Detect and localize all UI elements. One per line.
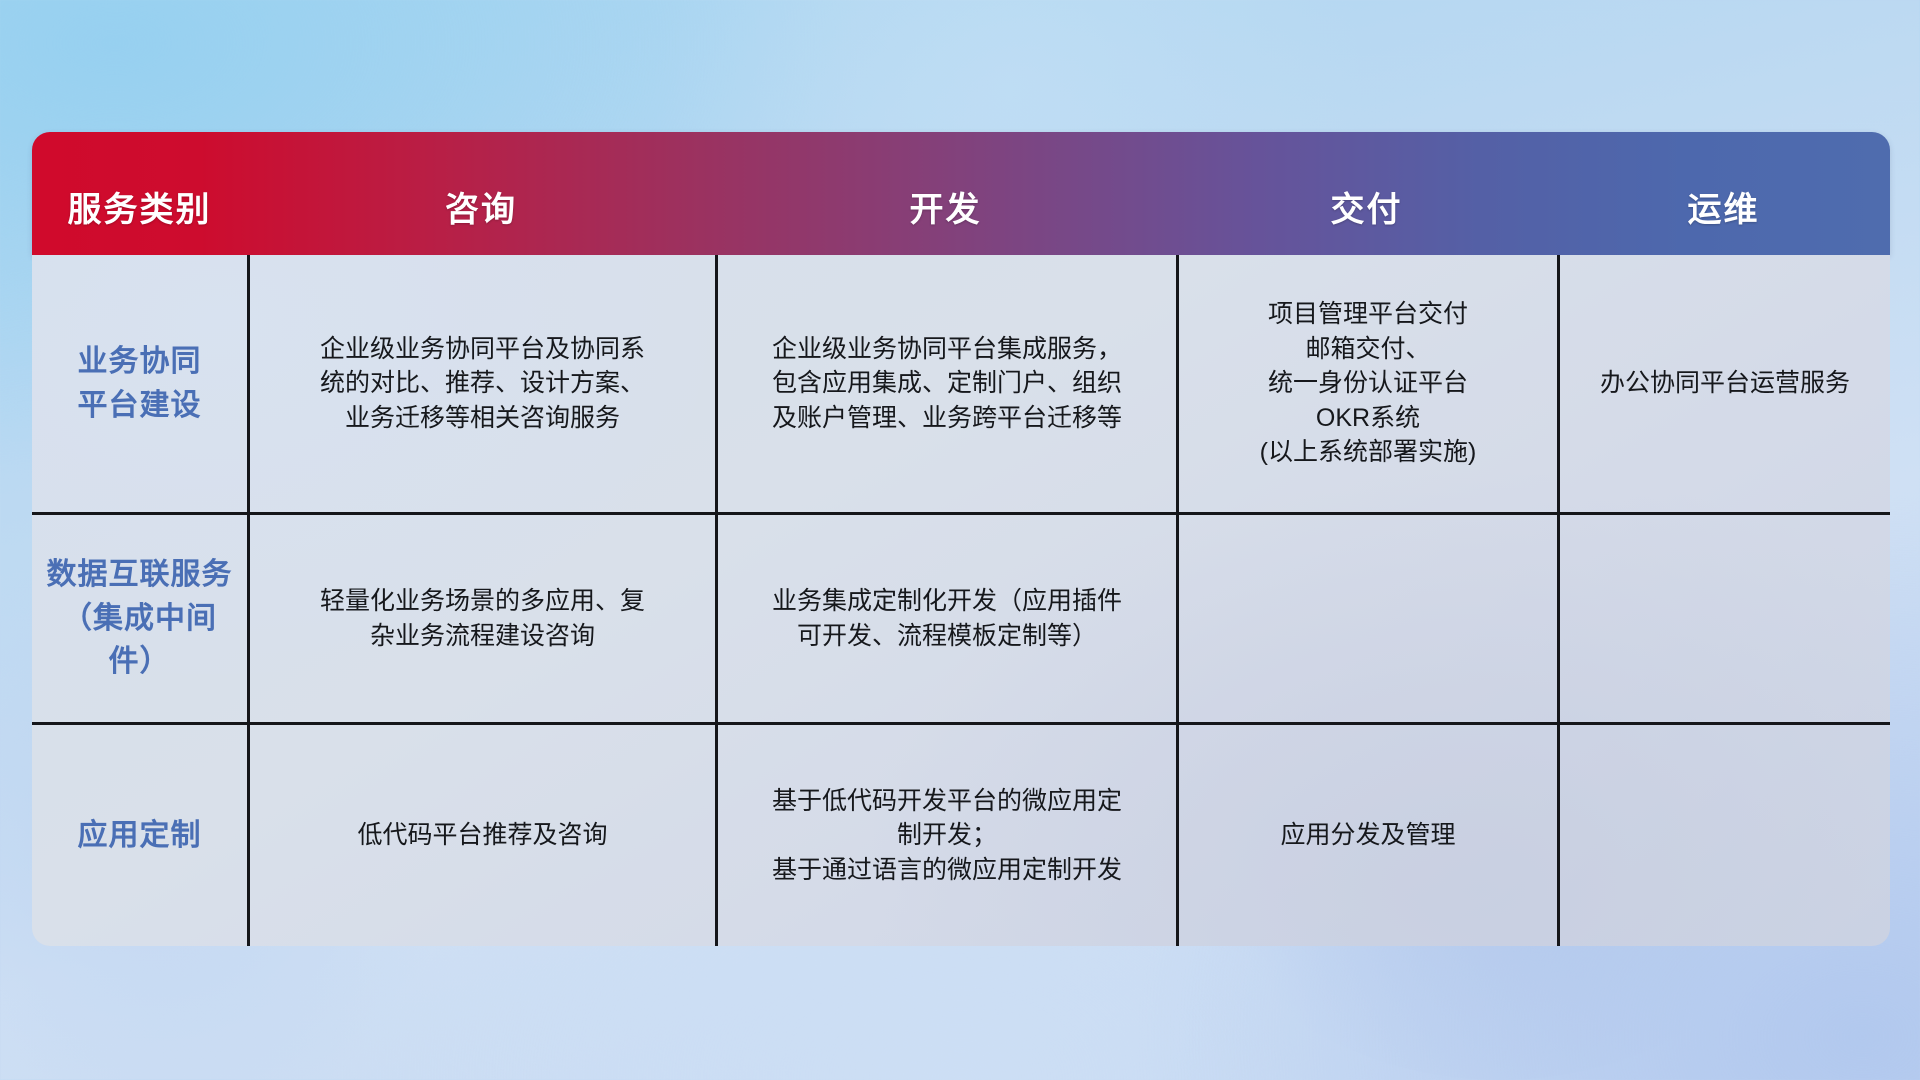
cell-development: 企业级业务协同平台集成服务， 包含应用集成、定制门户、组织 及账户管理、业务跨平… xyxy=(715,255,1176,512)
column-header-consulting: 咨询 xyxy=(247,182,715,255)
cell-operations xyxy=(1557,515,1890,722)
cell-category: 业务协同 平台建设 xyxy=(32,255,247,512)
cell-development: 业务集成定制化开发（应用插件 可开发、流程模板定制等） xyxy=(715,515,1176,722)
cell-development: 基于低代码开发平台的微应用定 制开发； 基于通过语言的微应用定制开发 xyxy=(715,725,1176,946)
cell-delivery xyxy=(1176,515,1557,722)
table-header-row: 服务类别 咨询 开发 交付 运维 xyxy=(32,132,1890,255)
cell-consulting: 轻量化业务场景的多应用、复 杂业务流程建设咨询 xyxy=(247,515,715,722)
column-header-operations: 运维 xyxy=(1557,182,1890,255)
cell-consulting: 企业级业务协同平台及协同系 统的对比、推荐、设计方案、 业务迁移等相关咨询服务 xyxy=(247,255,715,512)
column-header-delivery: 交付 xyxy=(1176,182,1557,255)
table-header: 服务类别 咨询 开发 交付 运维 xyxy=(32,132,1890,255)
table-row: 数据互联服务 （集成中间件） 轻量化业务场景的多应用、复 杂业务流程建设咨询 业… xyxy=(32,512,1890,722)
cell-consulting: 低代码平台推荐及咨询 xyxy=(247,725,715,946)
cell-operations xyxy=(1557,725,1890,946)
cell-operations: 办公协同平台运营服务 xyxy=(1557,255,1890,512)
table-row: 业务协同 平台建设 企业级业务协同平台及协同系 统的对比、推荐、设计方案、 业务… xyxy=(32,255,1890,512)
column-header-category: 服务类别 xyxy=(32,182,247,255)
column-header-development: 开发 xyxy=(715,182,1176,255)
cell-category: 数据互联服务 （集成中间件） xyxy=(32,515,247,722)
cell-delivery: 应用分发及管理 xyxy=(1176,725,1557,946)
cell-category: 应用定制 xyxy=(32,725,247,946)
service-matrix-table: 服务类别 咨询 开发 交付 运维 业务协同 平台建设 企业级业务协同平台及协同系… xyxy=(32,132,1890,946)
table-body: 业务协同 平台建设 企业级业务协同平台及协同系 统的对比、推荐、设计方案、 业务… xyxy=(32,255,1890,946)
cell-delivery: 项目管理平台交付 邮箱交付、 统一身份认证平台 OKR系统 (以上系统部署实施) xyxy=(1176,255,1557,512)
table-row: 应用定制 低代码平台推荐及咨询 基于低代码开发平台的微应用定 制开发； 基于通过… xyxy=(32,722,1890,946)
